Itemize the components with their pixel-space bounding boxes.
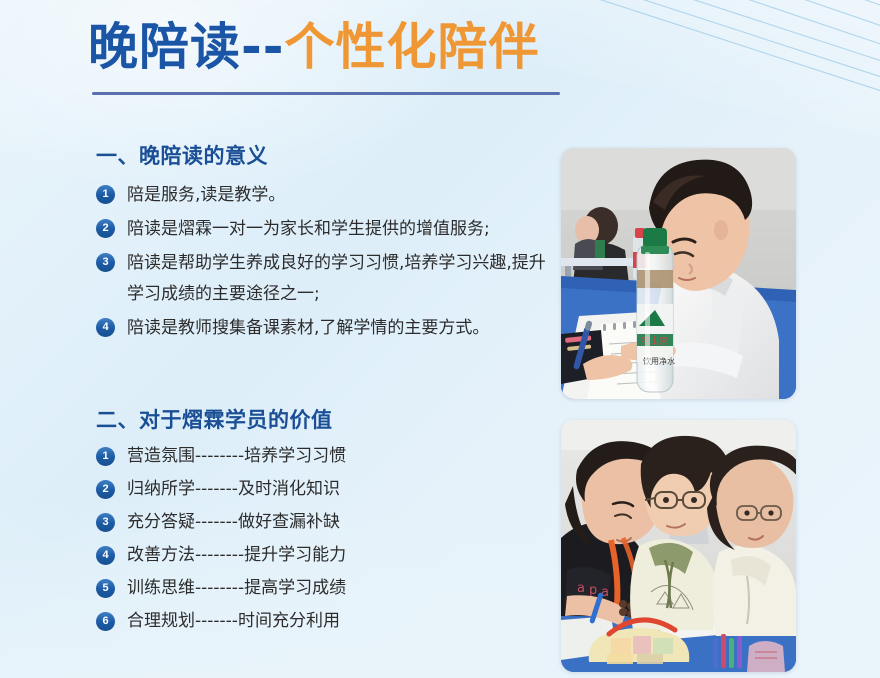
section-meaning: 一、晚陪读的意义 1 陪是服务,读是教学。 2 陪读是熠霖一对一为家长和学生提供… <box>96 142 546 347</box>
teacher-tutoring-photo: apa <box>561 420 796 672</box>
list-number-badge: 4 <box>96 318 115 337</box>
list-item: 3 陪读是帮助学生养成良好的学习习惯,培养学习兴趣,提升学习成绩的主要途径之一; <box>96 248 546 310</box>
page-title-blue-part: 晚陪读-- <box>88 18 285 76</box>
list-number-badge: 2 <box>96 480 115 499</box>
poster-header: 晚陪读--个性化陪伴 <box>0 0 880 112</box>
list-number-badge: 1 <box>96 185 115 204</box>
list-item-text: 合理规划-------时间充分利用 <box>127 609 340 634</box>
list-number-badge: 5 <box>96 579 115 598</box>
list-number-badge: 3 <box>96 253 115 272</box>
section-1-list: 1 陪是服务,读是教学。 2 陪读是熠霖一对一为家长和学生提供的增值服务; 3 … <box>96 180 546 344</box>
list-item: 3 充分答疑-------做好查漏补缺 <box>96 510 546 535</box>
list-item: 1 营造氛围--------培养学习习惯 <box>96 444 546 469</box>
list-number-badge: 3 <box>96 513 115 532</box>
section-2-heading: 二、对于熠霖学员的价值 <box>96 406 546 434</box>
list-item: 4 陪读是教师搜集备课素材,了解学情的主要方式。 <box>96 313 546 344</box>
page-title-orange-part: 个性化陪伴 <box>285 18 540 76</box>
svg-text:p: p <box>589 583 597 598</box>
list-number-badge: 1 <box>96 447 115 466</box>
list-item-text: 归纳所学-------及时消化知识 <box>127 477 340 502</box>
section-2-list: 1 营造氛围--------培养学习习惯 2 归纳所学-------及时消化知识… <box>96 444 546 634</box>
list-item-text: 训练思维--------提高学习成绩 <box>127 576 346 601</box>
svg-text:a: a <box>577 581 585 596</box>
list-item-text: 陪是服务,读是教学。 <box>127 180 285 211</box>
list-item: 2 归纳所学-------及时消化知识 <box>96 477 546 502</box>
student-studying-photo: 农山泉 饮用净水 <box>561 148 796 399</box>
list-item-text: 陪读是教师搜集备课素材,了解学情的主要方式。 <box>127 313 489 344</box>
list-item: 4 改善方法--------提升学习能力 <box>96 543 546 568</box>
section-1-heading: 一、晚陪读的意义 <box>96 142 546 170</box>
list-item-text: 陪读是熠霖一对一为家长和学生提供的增值服务; <box>127 214 490 245</box>
list-item-text: 陪读是帮助学生养成良好的学习习惯,培养学习兴趣,提升学习成绩的主要途径之一; <box>127 248 546 310</box>
section-value: 二、对于熠霖学员的价值 1 营造氛围--------培养学习习惯 2 归纳所学-… <box>96 406 546 642</box>
list-item: 6 合理规划-------时间充分利用 <box>96 609 546 634</box>
list-item-text: 营造氛围--------培养学习习惯 <box>127 444 346 469</box>
page-title: 晚陪读--个性化陪伴 <box>88 18 540 76</box>
list-number-badge: 4 <box>96 546 115 565</box>
list-item: 5 训练思维--------提高学习成绩 <box>96 576 546 601</box>
list-number-badge: 6 <box>96 612 115 631</box>
list-item-text: 改善方法--------提升学习能力 <box>127 543 346 568</box>
title-underline-rule <box>92 92 560 95</box>
poster-page: 晚陪读--个性化陪伴 一、晚陪读的意义 1 陪是服务,读是教学。 2 陪读是熠霖… <box>0 0 880 678</box>
list-item: 1 陪是服务,读是教学。 <box>96 180 546 211</box>
list-item-text: 充分答疑-------做好查漏补缺 <box>127 510 340 535</box>
list-item: 2 陪读是熠霖一对一为家长和学生提供的增值服务; <box>96 214 546 245</box>
list-number-badge: 2 <box>96 219 115 238</box>
